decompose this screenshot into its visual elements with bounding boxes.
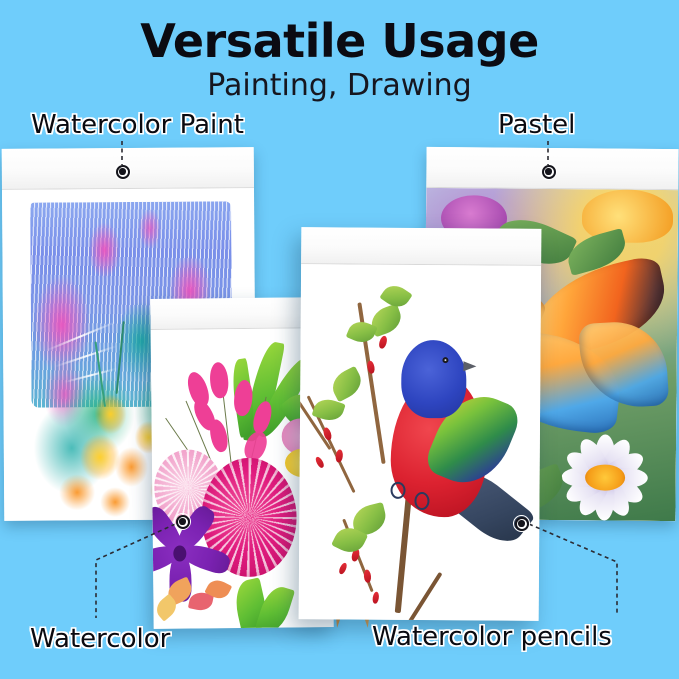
pad-sheet: [299, 264, 541, 621]
page-title: Versatile Usage: [0, 14, 679, 68]
watercolor-pencils-artwork: [299, 264, 541, 621]
watercolor-pencils-pad: [299, 227, 542, 621]
pad-binder-strip: [301, 227, 541, 266]
bullseye-marker-watercolor: [174, 513, 191, 530]
bullseye-marker-pastel: [540, 163, 557, 180]
callout-label-pastel: Pastel: [498, 110, 575, 140]
bullseye-marker-watercolor-pencils: [513, 515, 530, 532]
page-subtitle: Painting, Drawing: [0, 68, 679, 103]
callout-label-watercolor-paint: Watercolor Paint: [31, 110, 244, 140]
leader-watercolor-pencils: [529, 524, 617, 616]
bullseye-marker-watercolor-paint: [114, 163, 131, 180]
callout-label-watercolor-pencils: Watercolor pencils: [372, 622, 612, 652]
product-image-canvas: Versatile Usage Painting, Drawing: [0, 0, 679, 679]
callout-label-watercolor: Watercolor: [30, 624, 170, 654]
